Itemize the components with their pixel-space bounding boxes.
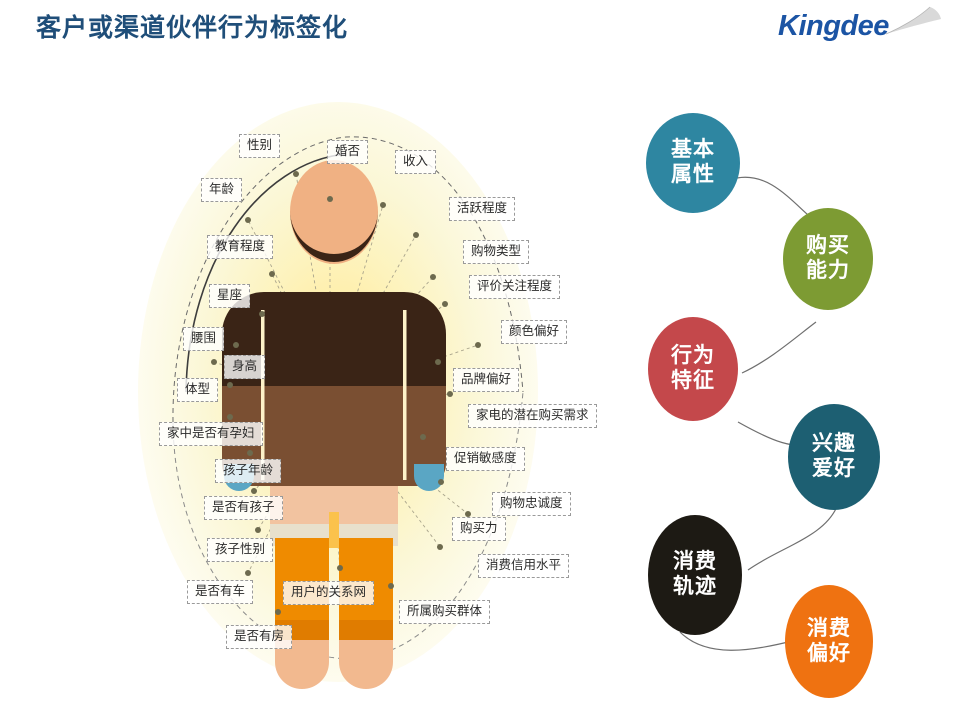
kingdee-logo-text: Kingdee — [778, 10, 889, 43]
tag-label[interactable]: 年龄 — [201, 178, 242, 202]
category-bubble-cluster: 基本属性购买能力行为特征兴趣爱好消费轨迹消费偏好 — [620, 92, 960, 712]
tag-node-dot — [465, 511, 471, 517]
tag-label[interactable]: 购物类型 — [463, 240, 529, 264]
tag-label[interactable]: 是否有车 — [187, 580, 253, 604]
tag-label[interactable]: 收入 — [395, 150, 436, 174]
tag-node-dot — [245, 217, 251, 223]
tag-label[interactable]: 教育程度 — [207, 235, 273, 259]
tag-label[interactable]: 所属购买群体 — [399, 600, 490, 624]
tag-label[interactable]: 是否有孩子 — [204, 496, 283, 520]
tag-label[interactable]: 体型 — [177, 378, 218, 402]
bubble-label-line1: 消费 — [807, 617, 851, 642]
bubble-label-line2: 特征 — [671, 369, 715, 394]
tag-label[interactable]: 孩子性别 — [207, 538, 273, 562]
bubble-label-line1: 消费 — [673, 550, 717, 575]
tag-node-dot — [413, 232, 419, 238]
tag-node-dot — [327, 196, 333, 202]
tag-node-dot — [475, 342, 481, 348]
tag-node-dot — [211, 359, 217, 365]
tag-label[interactable]: 品牌偏好 — [453, 368, 519, 392]
bubble-label-line1: 兴趣 — [812, 432, 856, 457]
tag-node-dot — [388, 583, 394, 589]
tag-node-dot — [233, 342, 239, 348]
page-header: 客户或渠道伙伴行为标签化 Kingdee — [0, 0, 960, 52]
bubble-label-line1: 行为 — [671, 344, 715, 369]
bubble-consumption-track[interactable]: 消费轨迹 — [648, 515, 742, 635]
tag-label[interactable]: 腰围 — [183, 327, 224, 351]
bubble-consumption-pref[interactable]: 消费偏好 — [785, 585, 873, 698]
tag-node-dot — [438, 479, 444, 485]
bubble-label-line2: 能力 — [806, 259, 850, 284]
tag-label[interactable]: 用户的关系网 — [283, 581, 374, 605]
tag-node-dot — [337, 565, 343, 571]
tag-label[interactable]: 活跃程度 — [449, 197, 515, 221]
tag-node-dot — [255, 527, 261, 533]
bubble-label-line1: 购买 — [806, 234, 850, 259]
bubble-purchase-power[interactable]: 购买能力 — [783, 208, 873, 310]
kingdee-logo: Kingdee — [772, 6, 942, 52]
page-title: 客户或渠道伙伴行为标签化 — [36, 8, 348, 44]
persona-tag-diagram: 性别婚否收入年龄活跃程度教育程度购物类型评价关注程度星座颜色偏好腰围身高品牌偏好… — [78, 92, 590, 692]
tag-label[interactable]: 性别 — [239, 134, 280, 158]
tag-node-dot — [442, 301, 448, 307]
tag-label[interactable]: 婚否 — [327, 140, 368, 164]
tag-node-dot — [269, 271, 275, 277]
bubble-label-line2: 爱好 — [812, 457, 856, 482]
tag-node-dot — [259, 311, 265, 317]
tag-label[interactable]: 身高 — [224, 355, 265, 379]
bubble-interests-hobbies[interactable]: 兴趣爱好 — [788, 404, 880, 510]
tag-label[interactable]: 家中是否有孕妇 — [159, 422, 263, 446]
tag-node-dot — [247, 450, 253, 456]
tag-label[interactable]: 评价关注程度 — [469, 275, 560, 299]
tag-node-dot — [380, 202, 386, 208]
bubble-basic-attributes[interactable]: 基本属性 — [646, 113, 740, 213]
tag-node-dot — [245, 570, 251, 576]
tag-node-dot — [435, 359, 441, 365]
bubble-label-line2: 属性 — [671, 163, 715, 188]
tag-node-dot — [430, 274, 436, 280]
tag-node-dot — [293, 171, 299, 177]
tag-label[interactable]: 星座 — [209, 284, 250, 308]
tag-label[interactable]: 购买力 — [452, 517, 506, 541]
tag-label[interactable]: 消费信用水平 — [478, 554, 569, 578]
bubble-label-line2: 轨迹 — [673, 575, 717, 600]
tag-node-dot — [447, 391, 453, 397]
tag-node-dot — [251, 488, 257, 494]
tag-label[interactable]: 购物忠诚度 — [492, 492, 571, 516]
tag-label[interactable]: 家电的潜在购买需求 — [468, 404, 597, 428]
tag-node-dot — [437, 544, 443, 550]
tag-node-dot — [275, 609, 281, 615]
tag-label[interactable]: 是否有房 — [226, 625, 292, 649]
tag-label[interactable]: 促销敏感度 — [446, 447, 525, 471]
tag-label[interactable]: 颜色偏好 — [501, 320, 567, 344]
tag-label[interactable]: 孩子年龄 — [215, 459, 281, 483]
tag-node-dot — [227, 382, 233, 388]
swoosh-icon — [884, 6, 942, 36]
tag-node-dot — [420, 434, 426, 440]
bubble-behavior-traits[interactable]: 行为特征 — [648, 317, 738, 421]
tag-node-dot — [227, 414, 233, 420]
bubble-label-line2: 偏好 — [807, 642, 851, 667]
bubble-label-line1: 基本 — [671, 138, 715, 163]
